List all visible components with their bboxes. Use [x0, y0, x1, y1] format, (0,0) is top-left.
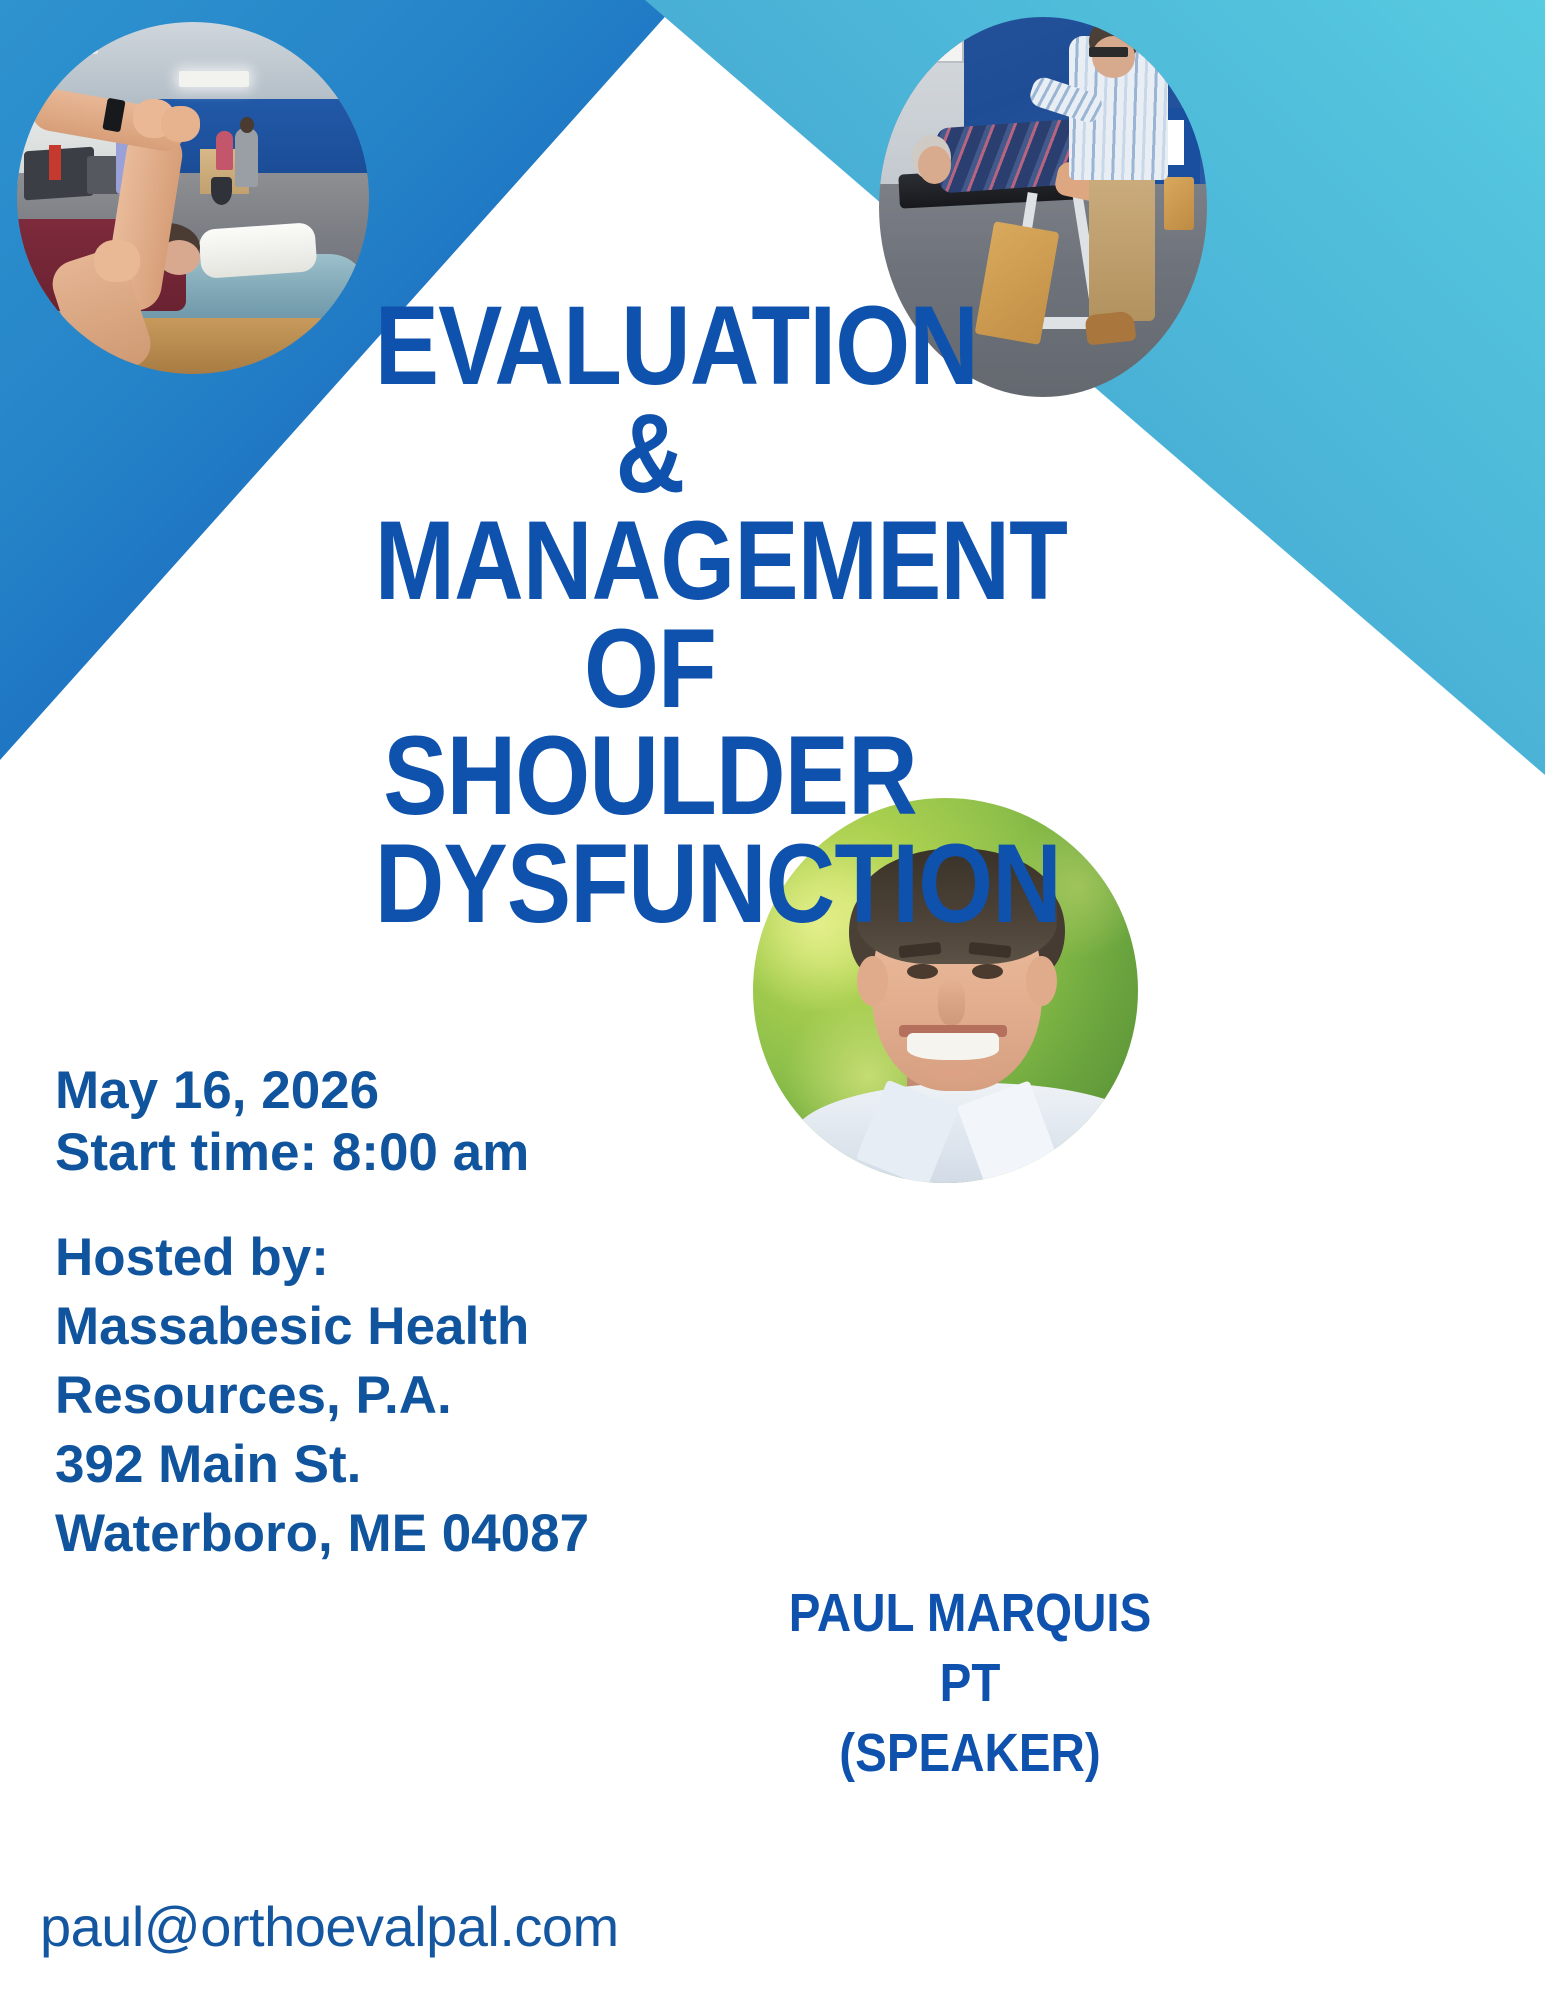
host-street-address: 392 Main St.	[55, 1431, 755, 1500]
title-line-2: MANAGEMENT OF	[375, 507, 925, 722]
speaker-name: PAUL MARQUIS PT	[768, 1578, 1173, 1718]
title-line-1: EVALUATION &	[375, 292, 925, 507]
title-line-4: DYSFUNCTION	[375, 830, 925, 938]
event-start-time: Start time: 8:00 am	[55, 1122, 755, 1184]
hosted-by-label: Hosted by:	[55, 1224, 755, 1293]
host-organization-line-1: Massabesic Health	[55, 1293, 755, 1362]
poster-title: EVALUATION & MANAGEMENT OF SHOULDER DYSF…	[375, 292, 925, 937]
contact-email[interactable]: paul@orthoevalpal.com	[40, 1894, 619, 1959]
event-date-time: May 16, 2026 Start time: 8:00 am	[55, 1060, 755, 1184]
speaker-role: (SPEAKER)	[768, 1718, 1173, 1788]
host-city-state-zip: Waterboro, ME 04087	[55, 1500, 755, 1569]
flyer-poster: EVALUATION & MANAGEMENT OF SHOULDER DYSF…	[0, 0, 1545, 2000]
event-date: May 16, 2026	[55, 1060, 755, 1122]
speaker-caption: PAUL MARQUIS PT (SPEAKER)	[768, 1578, 1173, 1789]
title-line-3: SHOULDER	[375, 722, 925, 830]
event-details-block: May 16, 2026 Start time: 8:00 am Hosted …	[55, 1060, 755, 1568]
host-address-block: Hosted by: Massabesic Health Resources, …	[55, 1224, 755, 1568]
host-organization-line-2: Resources, P.A.	[55, 1362, 755, 1431]
clinic-photo-top-left	[17, 22, 369, 374]
